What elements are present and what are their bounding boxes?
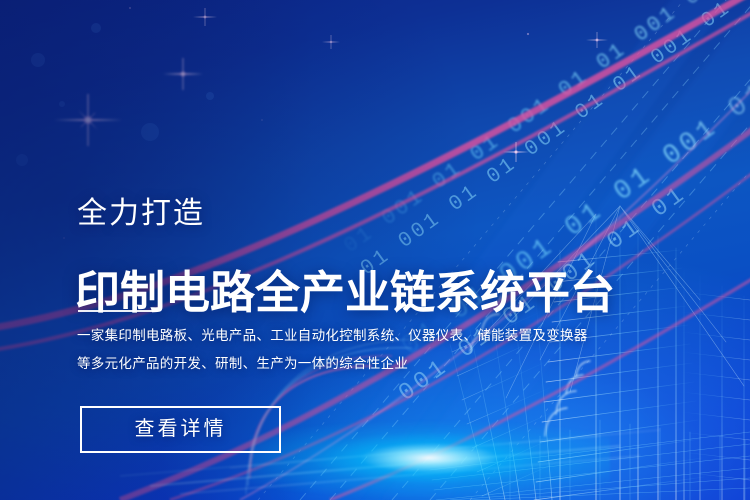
banner-headline: 印制电路全产业链系统平台 xyxy=(75,266,615,320)
banner-description: 一家集印制电路板、光电产品、工业自动化控制系统、仪器仪表、储能装置及变换器 等多… xyxy=(77,322,547,378)
view-details-button[interactable]: 查看详情 xyxy=(80,406,281,453)
description-line-1: 一家集印制电路板、光电产品、工业自动化控制系统、仪器仪表、储能装置及变换器 xyxy=(77,322,547,350)
hero-banner: 01 001 01 01 001 01 01 001 01 01 01 001 … xyxy=(0,0,750,500)
description-line-2: 等多元化产品的开发、研制、生产为一体的综合性企业 xyxy=(77,350,547,378)
banner-eyebrow: 全力打造 xyxy=(77,196,205,232)
banner-content: 全力打造 印制电路全产业链系统平台 一家集印制电路板、光电产品、工业自动化控制系… xyxy=(0,0,750,500)
title-divider xyxy=(78,310,152,312)
